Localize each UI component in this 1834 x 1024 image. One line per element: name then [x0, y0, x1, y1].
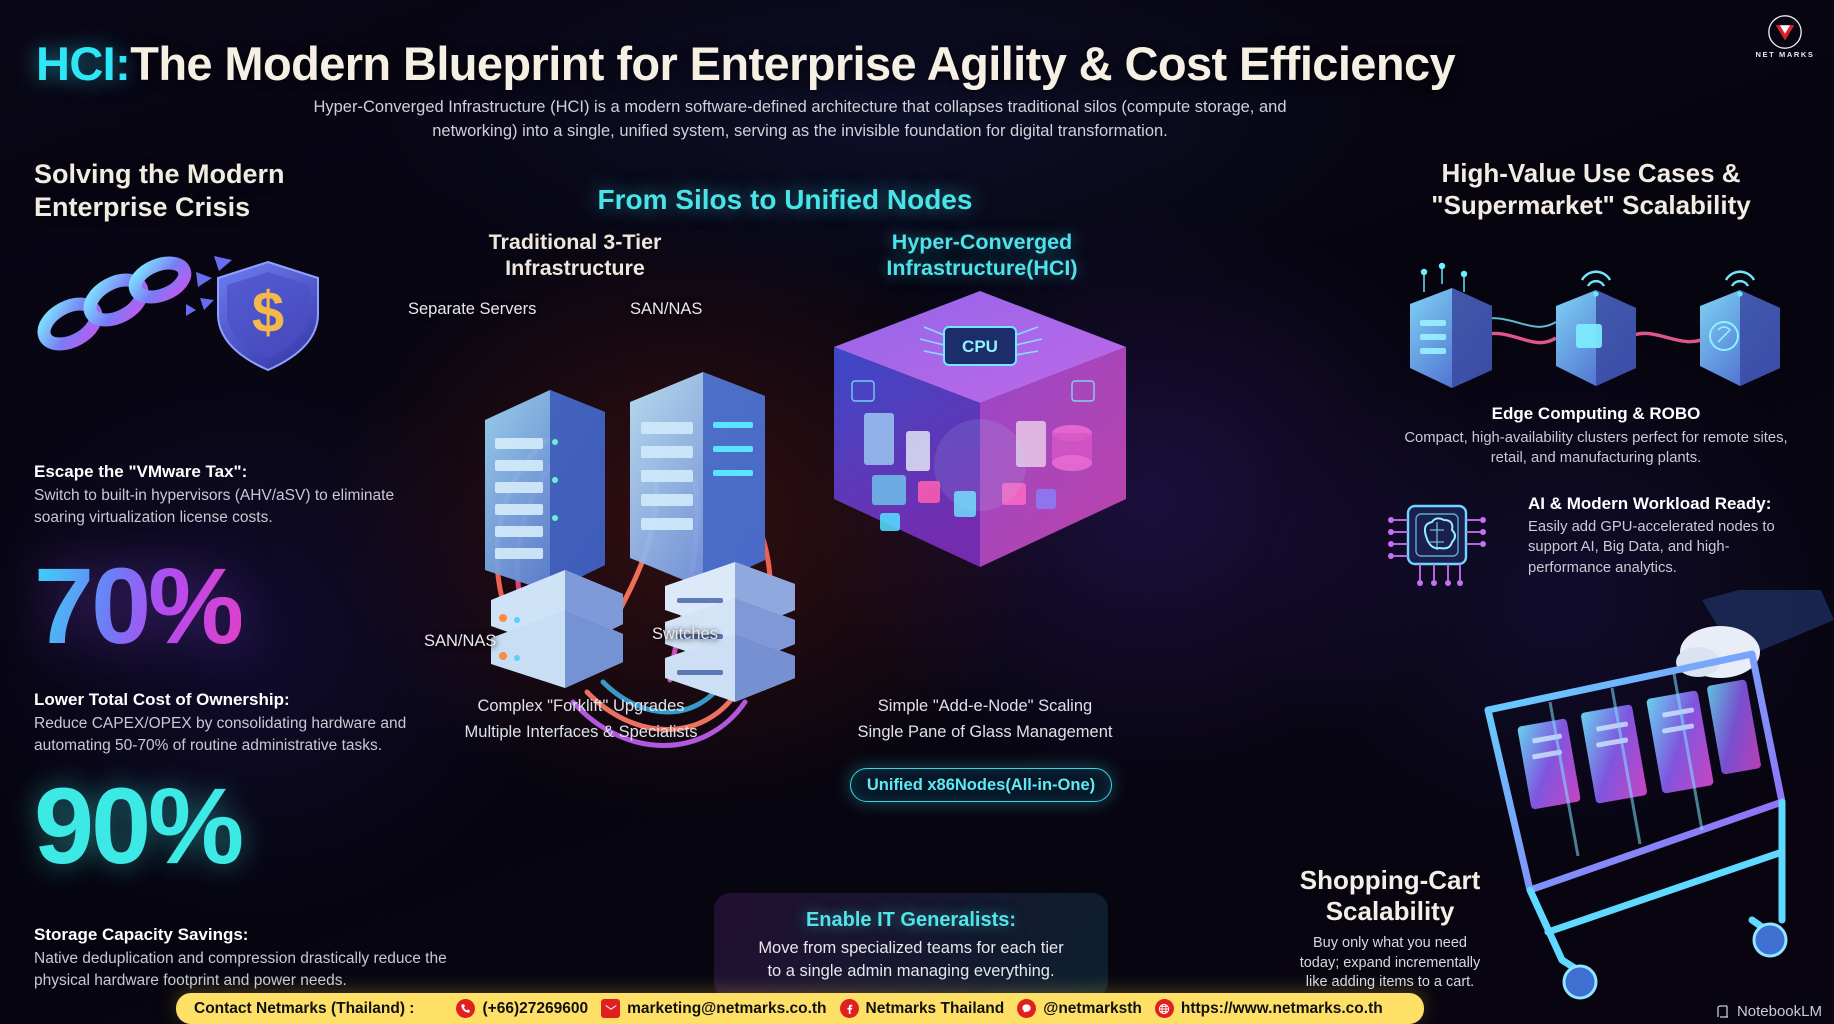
right-heading-line1: High-Value Use Cases & [1441, 158, 1740, 188]
contact-label: Contact Netmarks (Thailand) : [194, 1000, 414, 1018]
cart-title: Shopping-Cart Scalability [1295, 865, 1485, 926]
phone-icon [456, 999, 475, 1018]
contact-phone-text: (+66)27269600 [482, 1000, 588, 1018]
contact-chat-text: @netmarksth [1043, 1000, 1142, 1018]
hci-title: Hyper-ConvergedInfrastructure(HCI) [862, 230, 1102, 282]
right-item-1: AI & Modern Workload Ready: Easily add G… [1528, 494, 1796, 578]
contact-website[interactable]: https://www.netmarks.co.th [1155, 999, 1383, 1018]
title-accent: HCI: [36, 37, 130, 90]
right-item-1-title: AI & Modern Workload Ready: [1528, 494, 1796, 514]
shopping-cart-art [1452, 590, 1834, 1010]
facebook-icon [840, 999, 859, 1018]
chat-icon [1017, 999, 1036, 1018]
label-san-nas-bottom: SAN/NAS [424, 632, 496, 651]
logo-mark-icon [1768, 15, 1802, 49]
ai-brain-chip-icon [1382, 488, 1492, 596]
contact-phone[interactable]: (+66)27269600 [456, 999, 588, 1018]
globe-icon [1155, 999, 1174, 1018]
title-rest: The Modern Blueprint for Enterprise Agil… [130, 37, 1455, 90]
cart-block: Shopping-Cart Scalability Buy only what … [1295, 865, 1485, 993]
right-item-0-body: Compact, high-availability clusters perf… [1390, 428, 1802, 469]
left-item-0-body: Switch to built-in hypervisors (AHV/aSV)… [34, 485, 434, 529]
contact-website-text: https://www.netmarks.co.th [1181, 1000, 1383, 1018]
hci-caption-line1: Simple "Add-e-Node" Scaling [878, 697, 1092, 715]
page-subtitle: Hyper-Converged Infrastructure (HCI) is … [300, 96, 1300, 144]
generalists-body: Move from specialized teams for each tie… [758, 937, 1063, 983]
svg-text:$: $ [252, 280, 284, 345]
left-column: Solving the ModernEnterprise Crisis [34, 158, 434, 224]
right-item-0-title: Edge Computing & ROBO [1390, 404, 1802, 424]
kpi-70: 70% [34, 555, 241, 658]
left-item-0-title: Escape the "VMware Tax": [34, 462, 434, 482]
three-tier-caption-line1: Complex "Forklift" Upgrades [477, 697, 684, 715]
contact-facebook[interactable]: Netmarks Thailand [840, 999, 1005, 1018]
left-heading: Solving the ModernEnterprise Crisis [34, 158, 434, 224]
contact-chat[interactable]: @netmarksth [1017, 999, 1142, 1018]
broken-chain-shield-dollar-icon: $ [28, 252, 328, 382]
cart-body: Buy only what you need today; expand inc… [1295, 934, 1485, 993]
page-title: HCI:The Modern Blueprint for Enterprise … [36, 36, 1536, 91]
notebooklm-label: NotebookLM [1737, 1003, 1822, 1020]
unified-nodes-pill: Unified x86Nodes(All-in-One) [850, 768, 1112, 802]
label-san-nas-top: SAN/NAS [630, 300, 702, 319]
cart-title-line1: Shopping-Cart [1300, 865, 1481, 895]
right-heading: High-Value Use Cases & "Supermarket" Sca… [1376, 158, 1806, 221]
three-tier-caption: Complex "Forklift" Upgrades Multiple Int… [440, 694, 722, 745]
left-item-1: Lower Total Cost of Ownership: Reduce CA… [34, 690, 434, 757]
notebooklm-watermark: NotebookLM [1715, 1003, 1822, 1020]
left-item-0: Escape the "VMware Tax": Switch to built… [34, 462, 434, 529]
right-heading-line2: "Supermarket" Scalability [1431, 190, 1750, 220]
kpi-90: 90% [34, 775, 241, 878]
hci-cube-art: CPU [820, 285, 1140, 585]
notebooklm-icon [1715, 1004, 1731, 1020]
label-switches: Switches [652, 625, 718, 644]
contact-facebook-text: Netmarks Thailand [866, 1000, 1005, 1018]
infographic-canvas: NET MARKS HCI:The Modern Blueprint for E… [0, 0, 1834, 1024]
three-tier-caption-line2: Multiple Interfaces & Specialists [465, 723, 698, 741]
generalists-body-line2: to a single admin managing everything. [767, 962, 1054, 980]
netmarks-logo: NET MARKS [1754, 8, 1816, 66]
right-item-1-body: Easily add GPU-accelerated nodes to supp… [1528, 517, 1796, 578]
left-item-2-title: Storage Capacity Savings: [34, 925, 449, 945]
hci-caption-line2: Single Pane of Glass Management [858, 723, 1113, 741]
hci-caption: Simple "Add-e-Node" Scaling Single Pane … [840, 694, 1130, 745]
left-item-1-body: Reduce CAPEX/OPEX by consolidating hardw… [34, 713, 434, 757]
generalists-body-line1: Move from specialized teams for each tie… [758, 939, 1063, 957]
contact-footer-bar: Contact Netmarks (Thailand) : (+66)27269… [176, 993, 1424, 1024]
center-heading: From Silos to Unified Nodes [560, 183, 1010, 217]
left-item-1-title: Lower Total Cost of Ownership: [34, 690, 434, 710]
edge-nodes-wifi-icon [1380, 262, 1800, 392]
cart-title-line2: Scalability [1326, 896, 1455, 926]
label-separate-servers: Separate Servers [408, 300, 536, 319]
enable-it-generalists-card: Enable IT Generalists: Move from special… [714, 893, 1108, 998]
left-item-2-body: Native deduplication and compression dra… [34, 948, 449, 992]
contact-email-text: marketing@netmarks.co.th [627, 1000, 826, 1018]
three-tier-title: Traditional 3-TierInfrastructure [455, 230, 695, 282]
email-icon [601, 999, 620, 1018]
right-item-0: Edge Computing & ROBO Compact, high-avai… [1390, 404, 1802, 469]
logo-text: NET MARKS [1756, 50, 1815, 59]
right-column: High-Value Use Cases & "Supermarket" Sca… [1376, 158, 1806, 221]
left-item-2: Storage Capacity Savings: Native dedupli… [34, 925, 449, 992]
cube-cpu-label: CPU [962, 337, 998, 356]
contact-email[interactable]: marketing@netmarks.co.th [601, 999, 826, 1018]
generalists-title: Enable IT Generalists: [806, 909, 1016, 932]
